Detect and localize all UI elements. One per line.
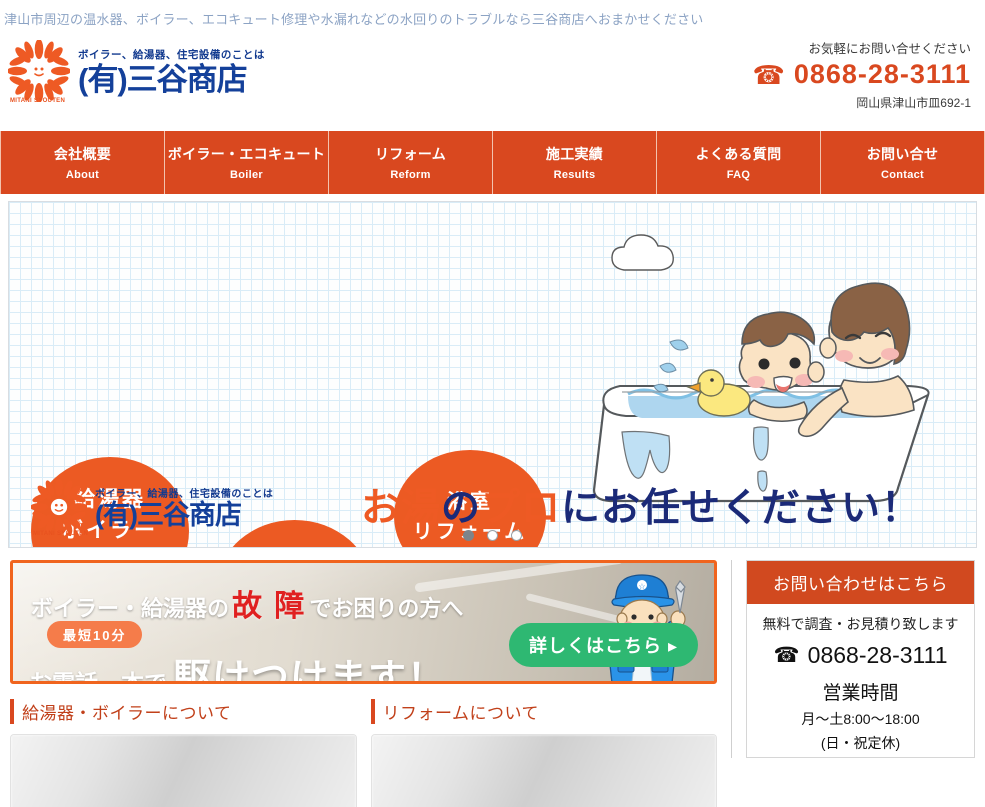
- contact-box-phone-row[interactable]: ☎ 0868-28-3111: [753, 642, 968, 669]
- section-card[interactable]: [10, 734, 357, 807]
- contact-box: お問い合わせはこちら 無料で調査・お見積り致します ☎ 0868-28-3111…: [746, 560, 975, 758]
- hero-slider-dot-2[interactable]: [487, 530, 498, 541]
- nav-label-ja: リフォーム: [375, 144, 446, 164]
- business-closed-days: (日・祝定休): [753, 733, 968, 753]
- logo-subtitle: ボイラー、給湯器、住宅設備のことは: [78, 47, 265, 62]
- section-heading: リフォームについて: [371, 699, 718, 724]
- hero-logo: MITANI SYOUTEN ボイラー、給湯器、住宅設備のことは (有)三谷商店: [31, 479, 273, 535]
- nav-item-faq[interactable]: よくある質問 FAQ: [657, 131, 821, 194]
- telephone-icon: ☎: [752, 62, 784, 88]
- header-phone-number[interactable]: 0868-28-3111: [794, 61, 971, 88]
- nav-label-ja: お問い合せ: [867, 144, 939, 164]
- header-contact-lead: お気軽にお問い合せください: [752, 38, 971, 57]
- promo-mainline: 駆けつけます！: [173, 647, 446, 684]
- site-logo[interactable]: MITANI SYOUTEN ボイラー、給湯器、住宅設備のことは (有)三谷商店: [8, 40, 265, 102]
- card-thumbnail: [11, 735, 356, 807]
- promo-headline-emphasis: 故 障: [232, 581, 306, 625]
- section-title: 給湯器・ボイラーについて: [22, 699, 232, 724]
- nav-label-ja: 会社概要: [54, 144, 111, 164]
- section-reform: リフォームについて: [371, 699, 718, 807]
- bubble-line: 修 理: [82, 546, 139, 548]
- sunflower-logo-icon: MITANI SYOUTEN: [8, 40, 70, 102]
- content-sections: 給湯器・ボイラーについて リフォームについて: [10, 699, 717, 807]
- headline-part-oyu: お湯: [361, 487, 441, 530]
- headline-part-rest: にお任せください！: [561, 487, 921, 530]
- nav-item-boiler[interactable]: ボイラー・エコキュート Boiler: [165, 131, 329, 194]
- nav-item-contact[interactable]: お問い合せ Contact: [821, 131, 985, 194]
- promo-subline: お電話一本で: [29, 664, 167, 684]
- contact-box-phone-number[interactable]: 0868-28-3111: [808, 642, 948, 669]
- main-column: ボイラー・給湯器の 故 障 でお困りの方へ 最短10分 お電話一本で 駆けつけま…: [10, 560, 717, 807]
- header-contact-block: お気軽にお問い合せください ☎ 0868-28-3111 岡山県津山市皿692-…: [752, 38, 971, 111]
- promo-headline-pre: ボイラー・給湯器の: [31, 591, 229, 623]
- nav-label-en: Boiler: [230, 169, 263, 181]
- svg-text:☆: ☆: [638, 582, 645, 591]
- nav-label-en: Reform: [390, 169, 430, 181]
- site-header: MITANI SYOUTEN ボイラー、給湯器、住宅設備のことは (有)三谷商店…: [0, 28, 985, 128]
- nav-label-en: Contact: [881, 169, 924, 181]
- hero-slider[interactable]: 給湯器 ボイラー 修 理 キッチン リフォーム 浴室 リフォーム: [8, 201, 977, 548]
- site-tagline: 津山市周辺の温水器、ボイラー、エコキュート修理や水漏れなどの水回りのトラブルなら…: [0, 0, 985, 28]
- hero-slider-dots: [9, 530, 976, 541]
- contact-box-heading: お問い合わせはこちら: [747, 561, 974, 604]
- promo-cta-button[interactable]: 詳しくはこちら ▸: [509, 623, 698, 667]
- bathtub-illustration-icon: [576, 220, 966, 515]
- sunflower-logo-icon: MITANI SYOUTEN: [31, 479, 87, 535]
- nav-label-en: FAQ: [727, 169, 751, 181]
- promo-headline-post: でお困りの方へ: [309, 591, 463, 623]
- section-water-heater-boiler: 給湯器・ボイラーについて: [10, 699, 357, 807]
- section-title: リフォームについて: [383, 699, 539, 724]
- headline-part-no: の: [441, 487, 481, 530]
- business-hours-title: 営業時間: [753, 678, 968, 705]
- business-hours-value: 月〜土8:00〜18:00: [753, 709, 968, 729]
- nav-label-ja: よくある質問: [696, 144, 782, 164]
- header-phone-row[interactable]: ☎ 0868-28-3111: [752, 61, 971, 88]
- repair-promo-banner[interactable]: ボイラー・給湯器の 故 障 でお困りの方へ 最短10分 お電話一本で 駆けつけま…: [10, 560, 717, 684]
- nav-item-about[interactable]: 会社概要 About: [0, 131, 165, 194]
- nav-label-ja: ボイラー・エコキュート: [168, 144, 325, 164]
- nav-label-ja: 施工実績: [546, 144, 603, 164]
- header-address: 岡山県津山市皿692-1: [752, 94, 971, 111]
- lower-content-area: ボイラー・給湯器の 故 障 でお困りの方へ 最短10分 お電話一本で 駆けつけま…: [10, 560, 975, 807]
- logo-mark-caption: MITANI SYOUTEN: [10, 98, 65, 104]
- logo-subtitle: ボイラー、給湯器、住宅設備のことは: [95, 485, 273, 500]
- nav-label-en: Results: [554, 169, 596, 181]
- sidebar: お問い合わせはこちら 無料で調査・お見積り致します ☎ 0868-28-3111…: [731, 560, 975, 758]
- main-navigation: 会社概要 About ボイラー・エコキュート Boiler リフォーム Refo…: [0, 131, 985, 194]
- nav-label-en: About: [66, 169, 99, 181]
- hero-slider-dot-1[interactable]: [463, 530, 474, 541]
- nav-item-reform[interactable]: リフォーム Reform: [329, 131, 493, 194]
- logo-company-name: (有)三谷商店: [95, 502, 273, 529]
- section-card[interactable]: [371, 734, 718, 807]
- promo-headline-2: お電話一本で 駆けつけます！: [29, 647, 446, 684]
- promo-speed-badge: 最短10分: [47, 621, 142, 648]
- section-heading: 給湯器・ボイラーについて: [10, 699, 357, 724]
- contact-box-lead: 無料で調査・お見積り致します: [753, 614, 968, 634]
- telephone-icon: ☎: [774, 645, 800, 666]
- promo-headline-1: ボイラー・給湯器の 故 障 でお困りの方へ: [31, 581, 463, 625]
- nav-item-results[interactable]: 施工実績 Results: [493, 131, 657, 194]
- contact-box-body: 無料で調査・お見積り致します ☎ 0868-28-3111 営業時間 月〜土8:…: [747, 604, 974, 757]
- headline-part-pro: プロ: [481, 487, 561, 530]
- card-thumbnail: [372, 735, 717, 807]
- logo-company-name: (有)三谷商店: [78, 64, 265, 95]
- hero-headline: お湯のプロにお任せください！: [361, 477, 921, 533]
- hero-slider-dot-3[interactable]: [511, 530, 522, 541]
